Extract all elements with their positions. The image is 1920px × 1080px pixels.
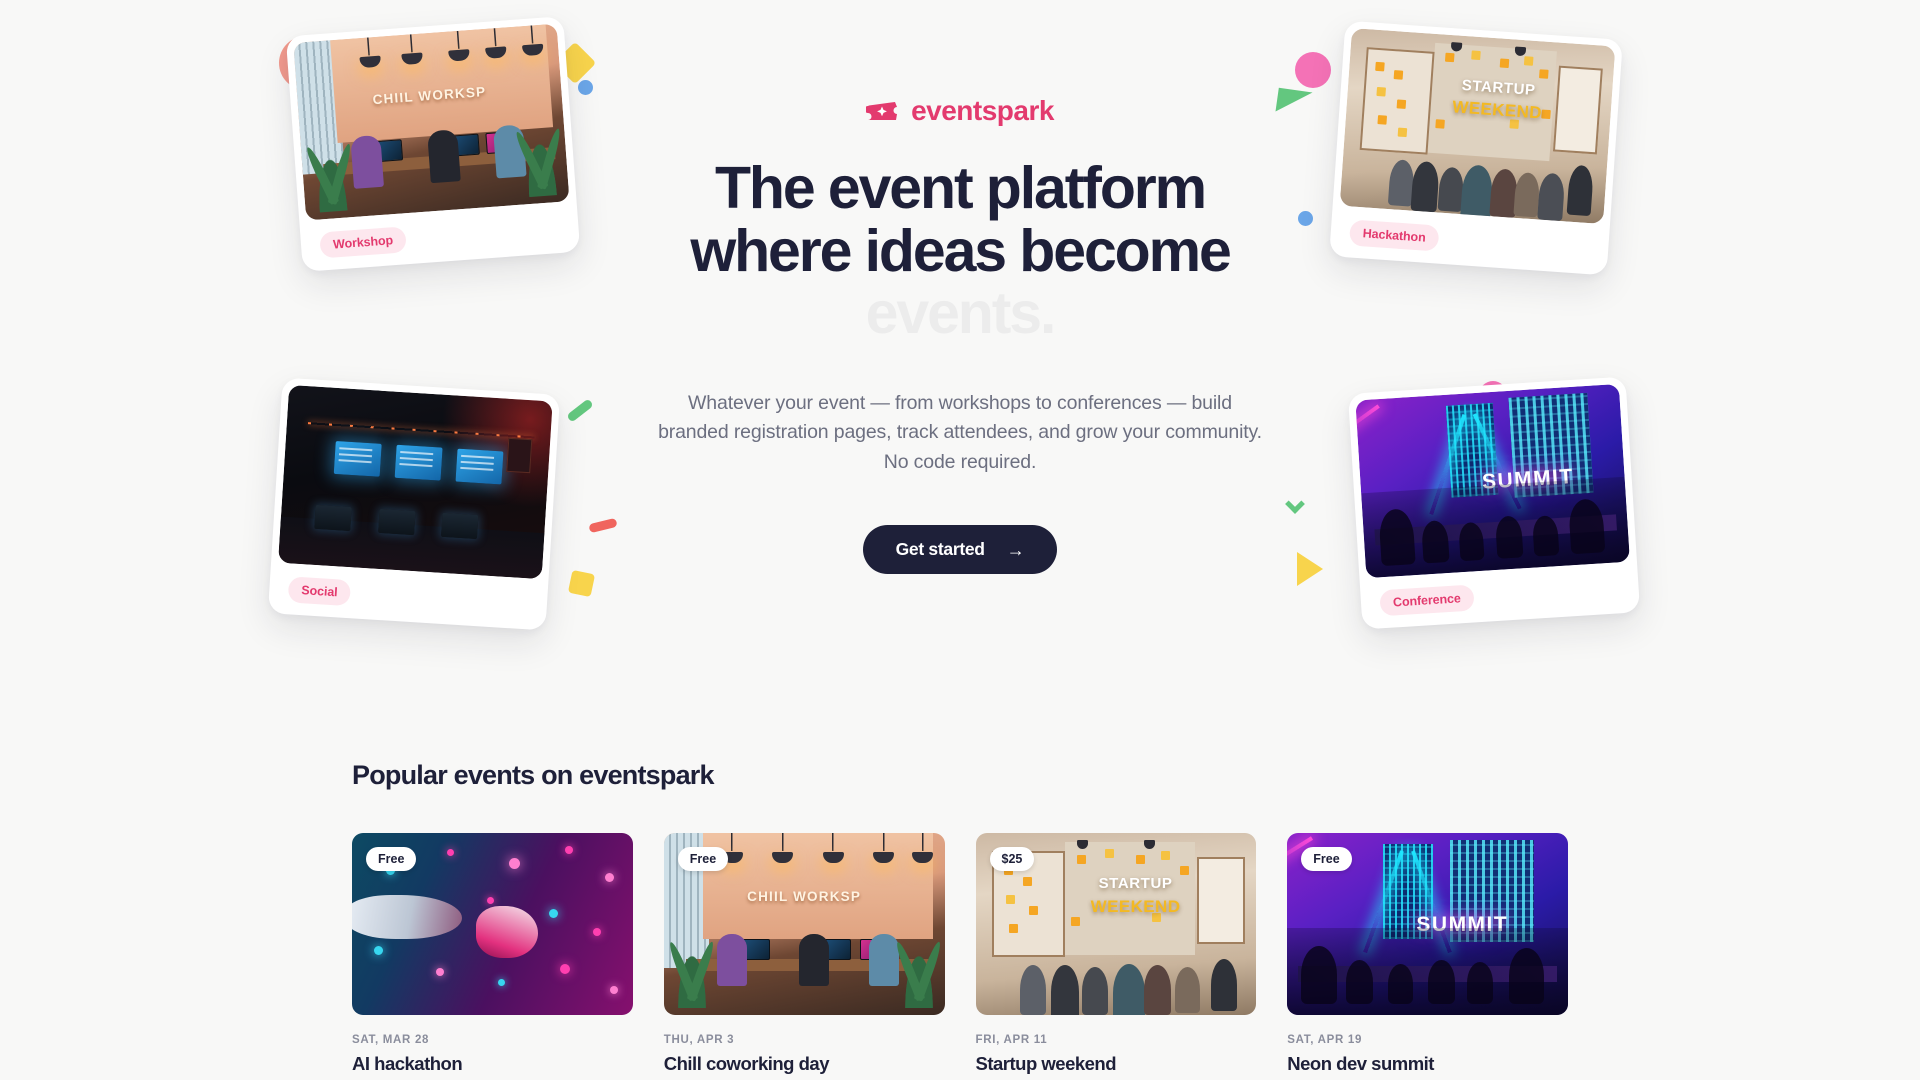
arrow-right-icon: → [1007, 541, 1025, 559]
decor-blue-dot-top-left [578, 80, 593, 95]
headline-line-1: The event platform [715, 155, 1205, 221]
headline-line-2: where ideas become [690, 218, 1229, 284]
event-date: THU, APR 3 [664, 1034, 945, 1046]
event-card[interactable]: Free SUMMIT [1287, 833, 1568, 1075]
decor-green-chevron [1285, 494, 1305, 514]
hero-card-conference[interactable]: SUMMIT Conference [1348, 377, 1640, 630]
popular-events-grid: Free [352, 833, 1568, 1075]
decor-blue-dot-right [1298, 211, 1313, 226]
event-price-badge: Free [678, 847, 728, 871]
hero-card-photo [278, 385, 553, 579]
photo-caption-line2: WEEKEND [1071, 897, 1200, 917]
decor-green-triangle-right [1275, 88, 1312, 116]
hero-card-tag: Workshop [319, 226, 407, 258]
hero-card-tag: Conference [1379, 584, 1474, 616]
page-title: The event platform where ideas become ev… [640, 157, 1280, 345]
photo-caption-line1: STARTUP [1071, 875, 1200, 892]
event-title: Chill coworking day [664, 1053, 945, 1075]
decor-green-bar [566, 398, 594, 422]
hero-section: CHIIL WORKSP Workshop [0, 0, 1920, 700]
event-date: SAT, MAR 28 [352, 1034, 633, 1046]
event-price-badge: $25 [990, 847, 1035, 871]
event-thumbnail[interactable]: Free SUMMIT [1287, 833, 1568, 1015]
decor-yellow-triangle-conf [1297, 552, 1323, 586]
hero-card-photo: SUMMIT [1355, 384, 1630, 578]
get-started-label: Get started [896, 539, 985, 560]
event-card[interactable]: $25 [976, 833, 1257, 1075]
event-title: AI hackathon [352, 1053, 633, 1075]
hero-card-tag: Hackathon [1349, 219, 1440, 251]
event-thumbnail[interactable]: $25 [976, 833, 1257, 1015]
event-price-badge: Free [1301, 847, 1351, 871]
event-title: Neon dev summit [1287, 1053, 1568, 1075]
brand-name: eventspark [911, 95, 1054, 127]
event-card[interactable]: Free [352, 833, 633, 1075]
hero-card-workshop[interactable]: CHIIL WORKSP Workshop [286, 16, 581, 272]
event-date: SAT, APR 19 [1287, 1034, 1568, 1046]
hero-card-photo: CHIIL WORKSP [293, 24, 569, 221]
photo-caption: CHIIL WORKSP [717, 889, 891, 904]
ticket-sparkle-icon [866, 99, 900, 123]
event-card[interactable]: Free CHIIL WORKSP [664, 833, 945, 1075]
popular-events-section: Popular events on eventspark Free [0, 760, 1920, 1075]
decor-pink-circle-top-right [1295, 52, 1331, 88]
event-title: Startup weekend [976, 1053, 1257, 1075]
headline-line-3: events. [866, 280, 1055, 346]
get-started-button[interactable]: Get started → [863, 525, 1058, 574]
event-price-badge: Free [366, 847, 416, 871]
popular-events-title: Popular events on eventspark [352, 760, 1568, 791]
event-thumbnail[interactable]: Free CHIIL WORKSP [664, 833, 945, 1015]
brand-logo[interactable]: eventspark [640, 95, 1280, 127]
hero-card-photo: STARTUP WEEKEND [1340, 28, 1616, 224]
event-date: FRI, APR 11 [976, 1034, 1257, 1046]
hero-card-hackathon[interactable]: STARTUP WEEKEND Hackathon [1329, 21, 1623, 276]
hero-subtitle: Whatever your event — from workshops to … [640, 389, 1280, 478]
decor-yellow-square-social [568, 570, 595, 597]
hero-card-social[interactable]: Social [268, 378, 560, 631]
decor-red-bar [588, 518, 617, 534]
event-thumbnail[interactable]: Free [352, 833, 633, 1015]
hero-card-tag: Social [288, 576, 352, 606]
